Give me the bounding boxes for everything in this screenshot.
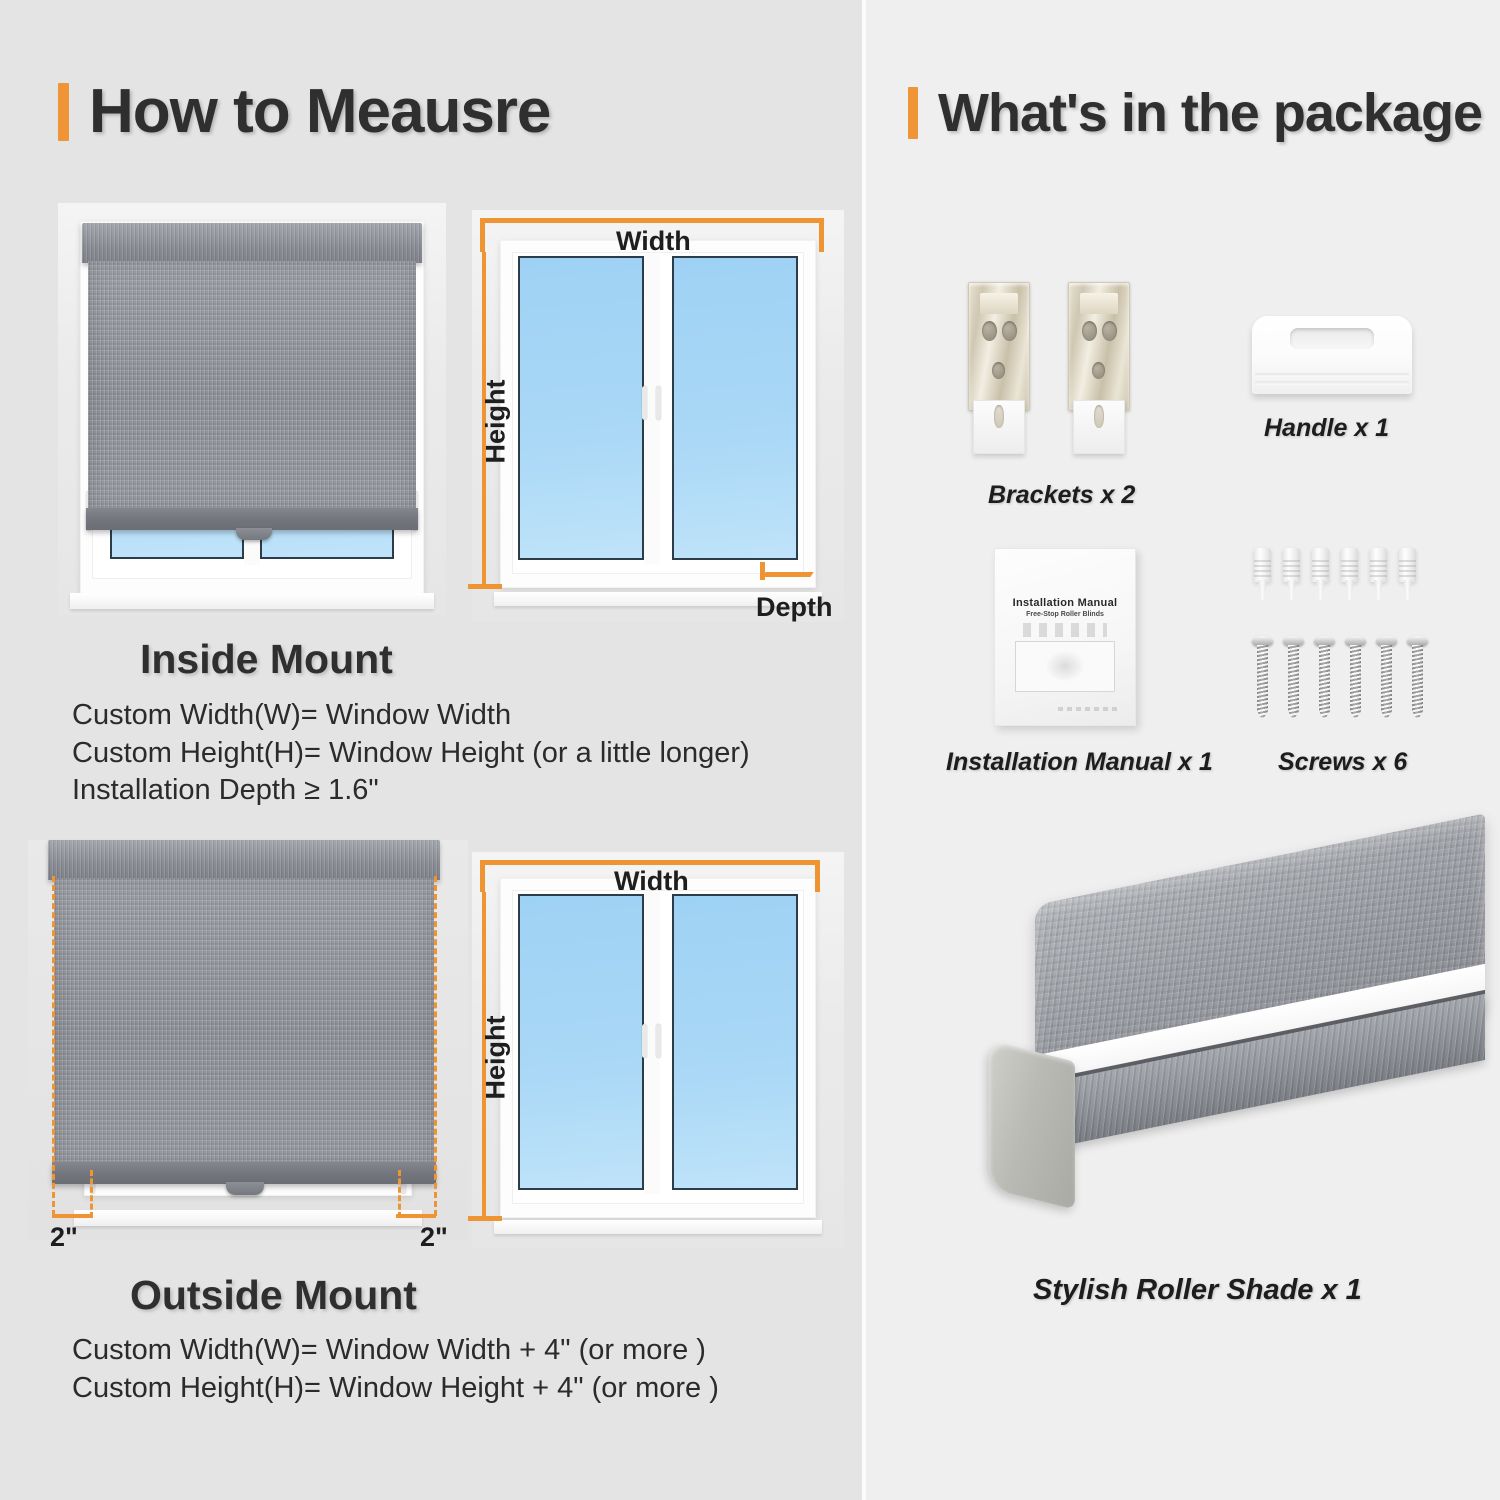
handle-label: Handle x 1 bbox=[1264, 414, 1389, 443]
shade-bottom-rail bbox=[86, 508, 418, 530]
roller-shade-label: Stylish Roller Shade x 1 bbox=[1033, 1274, 1362, 1307]
outside-mount-title: Outside Mount bbox=[130, 1272, 417, 1319]
wall-anchor-icon bbox=[1370, 548, 1387, 582]
wall-anchor-icon bbox=[1312, 548, 1329, 582]
window-handle-right-icon bbox=[656, 1024, 661, 1058]
inside-mount-line-3: Installation Depth ≥ 1.6" bbox=[72, 772, 750, 810]
width-label: Width bbox=[614, 866, 689, 897]
wall-anchor-icon bbox=[1341, 548, 1358, 582]
screw-group bbox=[1256, 636, 1426, 722]
outside-mount-dimension-diagram: Width Height bbox=[472, 852, 844, 1248]
manual-cover-icons bbox=[1023, 623, 1107, 637]
width-dimension-cap-right bbox=[815, 860, 820, 892]
outside-mount-line-1: Custom Width(W)= Window Width + 4" (or m… bbox=[72, 1332, 719, 1370]
outside-mount-line-2: Custom Height(H)= Window Height + 4" (or… bbox=[72, 1370, 719, 1408]
handle-ridge bbox=[1255, 381, 1409, 385]
shade-valance bbox=[82, 223, 422, 263]
bracket-slot bbox=[1094, 405, 1104, 429]
bracket-hole bbox=[1102, 321, 1117, 341]
depth-dimension-cap bbox=[760, 562, 765, 580]
overhang-dimension-right bbox=[396, 1214, 436, 1218]
width-label: Width bbox=[616, 226, 691, 257]
screw-icon bbox=[1256, 636, 1269, 720]
window-glass-left bbox=[518, 256, 644, 560]
inside-mount-title: Inside Mount bbox=[140, 636, 393, 683]
window-sill bbox=[74, 1210, 422, 1226]
screw-icon bbox=[1349, 636, 1362, 720]
window-handle-left-icon bbox=[642, 386, 647, 420]
shade-fabric bbox=[88, 261, 416, 511]
width-dimension-line bbox=[480, 218, 824, 223]
package-title: What's in the package bbox=[938, 82, 1482, 144]
how-to-measure-panel: How to Meausre bbox=[0, 0, 862, 1500]
bracket-slot bbox=[994, 405, 1004, 429]
handle-icon bbox=[1252, 316, 1412, 394]
manual-cover-footer bbox=[1058, 707, 1121, 711]
overhang-label-left: 2" bbox=[50, 1222, 78, 1253]
outside-mount-instructions: Custom Width(W)= Window Width + 4" (or m… bbox=[72, 1332, 719, 1407]
height-label: Height bbox=[481, 1016, 512, 1100]
manual-label: Installation Manual x 1 bbox=[946, 748, 1213, 777]
depth-label: Depth bbox=[756, 592, 833, 623]
handle-grip-slot bbox=[1290, 328, 1373, 348]
height-dimension-cap-bottom bbox=[468, 584, 502, 589]
screw-icon bbox=[1287, 636, 1300, 720]
outside-mount-shade-illustration: 2" 2" bbox=[28, 840, 468, 1240]
bracket-hole bbox=[982, 321, 997, 341]
bracket-plastic-base bbox=[973, 400, 1025, 454]
inside-mount-line-2: Custom Height(H)= Window Height (or a li… bbox=[72, 735, 750, 773]
screw-icon bbox=[1380, 636, 1393, 720]
window-glass-right bbox=[672, 256, 798, 560]
roller-shade-end-cap bbox=[989, 1040, 1075, 1209]
width-dimension-line bbox=[480, 860, 820, 865]
window-sill bbox=[494, 1220, 822, 1234]
window-sill bbox=[70, 593, 434, 609]
bracket-metal-body bbox=[968, 282, 1030, 411]
bracket-icon bbox=[968, 282, 1030, 454]
manual-cover-subtitle: Free-Stop Roller Blinds bbox=[995, 611, 1135, 618]
overhang-dimension-left bbox=[52, 1214, 92, 1218]
accent-bar-icon bbox=[908, 87, 918, 139]
window-handle-right-icon bbox=[656, 386, 661, 420]
package-heading: What's in the package bbox=[908, 82, 1482, 144]
wall-anchor-icon bbox=[1283, 548, 1300, 582]
width-dimension-cap-left bbox=[480, 860, 485, 892]
bracket-hole bbox=[1002, 321, 1017, 341]
bracket-hole bbox=[1092, 362, 1105, 379]
wall-anchor-icon bbox=[1399, 548, 1416, 582]
screw-icon bbox=[1318, 636, 1331, 720]
manual-icon: Installation Manual Free-Stop Roller Bli… bbox=[994, 548, 1136, 726]
window-glass-left bbox=[518, 894, 644, 1190]
window-handle-left-icon bbox=[642, 1024, 647, 1058]
inside-mount-instructions: Custom Width(W)= Window Width Custom Hei… bbox=[72, 697, 750, 810]
manual-cover-illustration bbox=[1015, 641, 1116, 692]
shade-pull-tab[interactable] bbox=[226, 1182, 264, 1195]
window-glass-right bbox=[672, 894, 798, 1190]
inside-mount-line-1: Custom Width(W)= Window Width bbox=[72, 697, 750, 735]
wall-anchor-icon bbox=[1254, 548, 1271, 582]
bracket-metal-body bbox=[1068, 282, 1130, 411]
overhang-label-right: 2" bbox=[420, 1222, 448, 1253]
shade-fabric bbox=[54, 878, 434, 1166]
shade-pull-tab[interactable] bbox=[236, 528, 272, 540]
overhang-guide-right-inner bbox=[398, 1170, 401, 1218]
screw-icon bbox=[1411, 636, 1424, 720]
bracket-hole bbox=[1082, 321, 1097, 341]
height-label: Height bbox=[481, 380, 512, 464]
height-dimension-cap-bottom bbox=[468, 1216, 502, 1221]
shade-valance bbox=[48, 840, 440, 880]
handle-ridge bbox=[1255, 373, 1409, 377]
how-to-measure-heading: How to Meausre bbox=[58, 76, 550, 147]
width-dimension-cap-left bbox=[480, 218, 485, 252]
bracket-icon bbox=[1068, 282, 1130, 454]
bracket-plastic-base bbox=[1073, 400, 1125, 454]
inside-mount-dimension-diagram: Width Height Depth bbox=[472, 210, 844, 622]
brackets-label: Brackets x 2 bbox=[988, 481, 1135, 510]
overhang-guide-right-outer bbox=[434, 876, 437, 1216]
inside-mount-shade-illustration bbox=[58, 203, 446, 615]
wall-anchor-group bbox=[1254, 548, 1424, 606]
roller-shade-icon bbox=[975, 905, 1485, 1245]
depth-dimension-line bbox=[762, 572, 813, 577]
accent-bar-icon bbox=[58, 83, 69, 141]
shade-bottom-rail bbox=[52, 1162, 436, 1184]
width-dimension-cap-right bbox=[819, 218, 824, 252]
bracket-hole bbox=[992, 362, 1005, 379]
how-to-measure-title: How to Meausre bbox=[89, 76, 550, 147]
overhang-guide-left-inner bbox=[90, 1170, 93, 1218]
screws-label: Screws x 6 bbox=[1278, 748, 1407, 777]
infographic-page: How to Meausre bbox=[0, 0, 1500, 1500]
manual-cover-title: Installation Manual bbox=[995, 597, 1135, 609]
overhang-guide-left-outer bbox=[52, 876, 55, 1216]
